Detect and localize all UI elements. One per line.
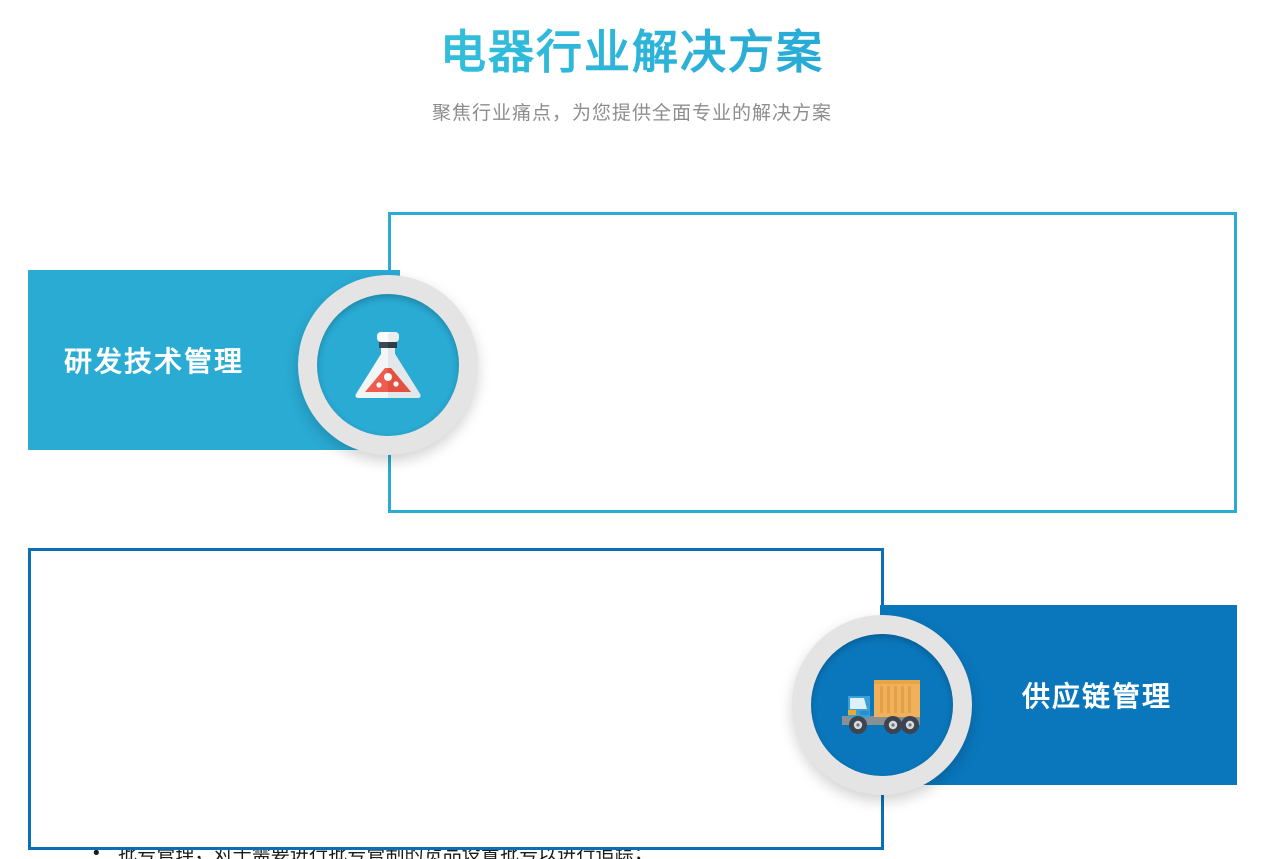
flask-icon (347, 324, 429, 406)
banner-rd-tech-management-label: 研发技术管理 (64, 340, 244, 380)
medallion-disc-blue (811, 634, 953, 776)
page-header: 电器行业解决方案 聚焦行业痛点，为您提供全面专业的解决方案 (0, 0, 1264, 125)
truck-icon (836, 672, 928, 738)
medallion-supply-chain-management (792, 615, 972, 795)
section-rd-tech-management-box (388, 212, 1237, 513)
page-title: 电器行业解决方案 (0, 24, 1264, 82)
section-supply-chain-management-box (28, 548, 884, 850)
medallion-disc-cyan (317, 294, 459, 436)
banner-supply-chain-management-label: 供应链管理 (1022, 675, 1172, 715)
medallion-rd-tech-management (298, 275, 478, 455)
page-subtitle: 聚焦行业痛点，为您提供全面专业的解决方案 (0, 98, 1264, 125)
solution-page: 电器行业解决方案 聚焦行业痛点，为您提供全面专业的解决方案 研发技术管理 (0, 0, 1264, 859)
